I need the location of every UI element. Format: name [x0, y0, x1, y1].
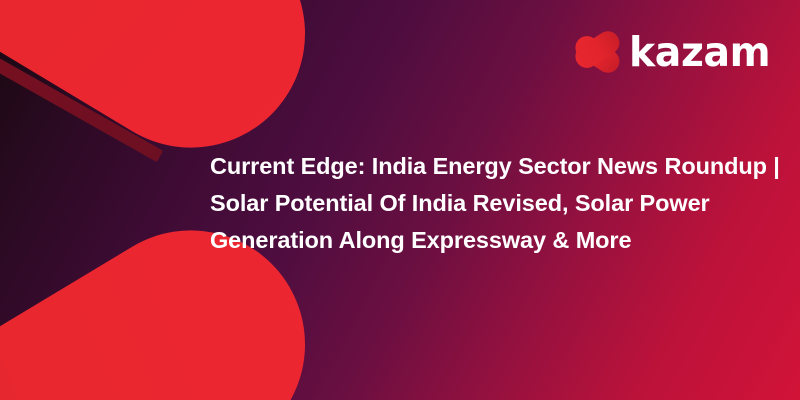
page-title: Current Edge: India Energy Sector News R…	[210, 148, 790, 259]
kazam-chevron-icon	[570, 26, 620, 78]
large-chevron-seam	[0, 0, 163, 162]
headline-line-2: Solar Potential Of India Revised, Solar …	[210, 185, 790, 222]
kazam-wordmark: kazam	[629, 32, 770, 73]
headline-line-1: Current Edge: India Energy Sector News R…	[210, 148, 790, 185]
kazam-logo[interactable]: kazam	[570, 24, 776, 80]
headline-line-3: Generation Along Expressway & More	[210, 222, 790, 259]
blog-banner: kazam Current Edge: India Energy Sector …	[0, 0, 800, 400]
